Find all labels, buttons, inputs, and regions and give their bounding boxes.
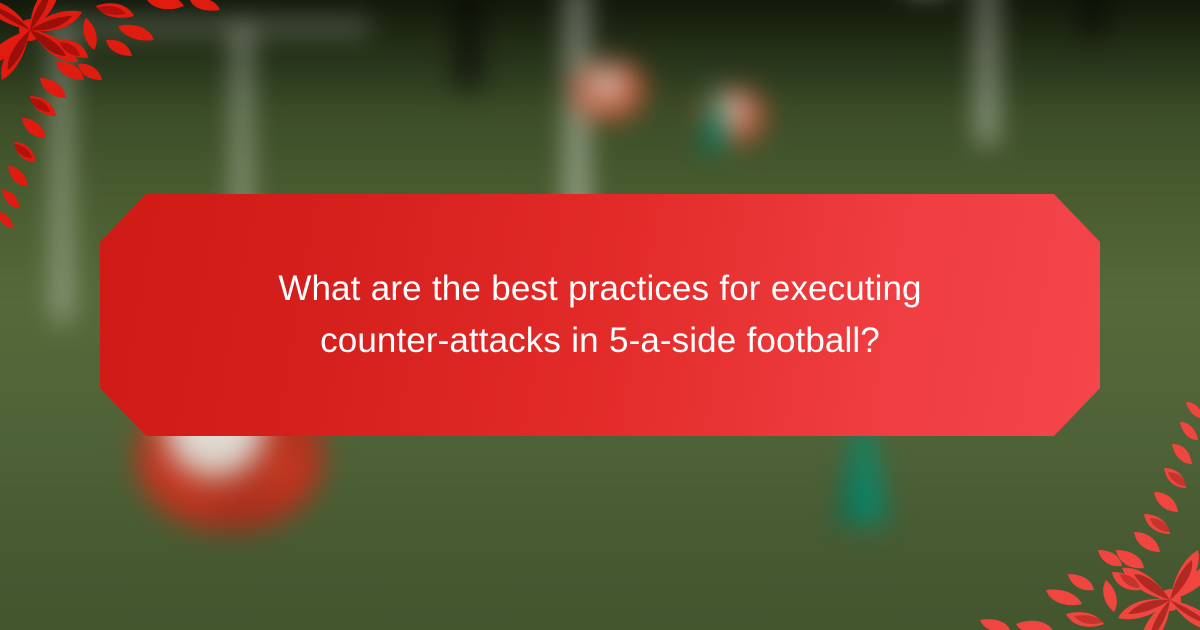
title-banner: What are the best practices for executin… xyxy=(100,194,1100,436)
share-card: What are the best practices for executin… xyxy=(0,0,1200,630)
page-title: What are the best practices for executin… xyxy=(235,263,965,367)
